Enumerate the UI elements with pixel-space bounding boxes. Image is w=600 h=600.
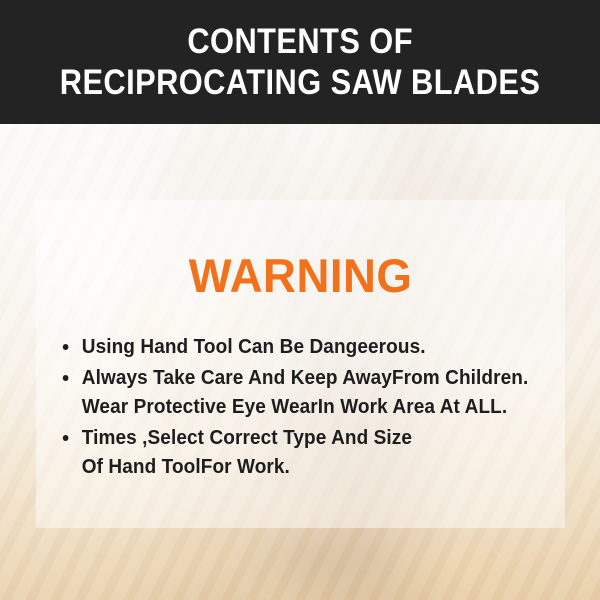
bullet-dot-icon	[63, 435, 69, 441]
header-banner: CONTENTS OF RECIPROCATING SAW BLADES	[0, 0, 600, 124]
warning-heading: WARNING	[44, 252, 557, 299]
bullet-dot-icon	[63, 344, 69, 350]
list-item: Using Hand Tool Can Be Dangeerous.	[58, 333, 533, 361]
bullet-text: Using Hand Tool Can Be Dangeerous.	[82, 333, 533, 361]
page-title-line-2: RECIPROCATING SAW BLADES	[60, 65, 541, 101]
bullet-text: Of Hand ToolFor Work.	[82, 453, 533, 481]
list-item: Times ,Select Correct Type And Size Of H…	[58, 424, 533, 481]
list-item: Always Take Care And Keep AwayFrom Child…	[58, 364, 533, 421]
bullet-text: Wear Protective Eye WearIn Work Area At …	[82, 393, 533, 421]
page-title-line-1: CONTENTS OF	[187, 24, 413, 60]
warning-poster: CONTENTS OF RECIPROCATING SAW BLADES WAR…	[0, 0, 600, 600]
bullet-text: Always Take Care And Keep AwayFrom Child…	[82, 364, 533, 392]
warning-panel-content: WARNING Using Hand Tool Can Be Dangeerou…	[36, 200, 565, 528]
bullet-text: Times ,Select Correct Type And Size	[82, 424, 533, 452]
warning-bullet-list: Using Hand Tool Can Be Dangeerous. Alway…	[58, 333, 558, 484]
bullet-dot-icon	[63, 375, 69, 381]
